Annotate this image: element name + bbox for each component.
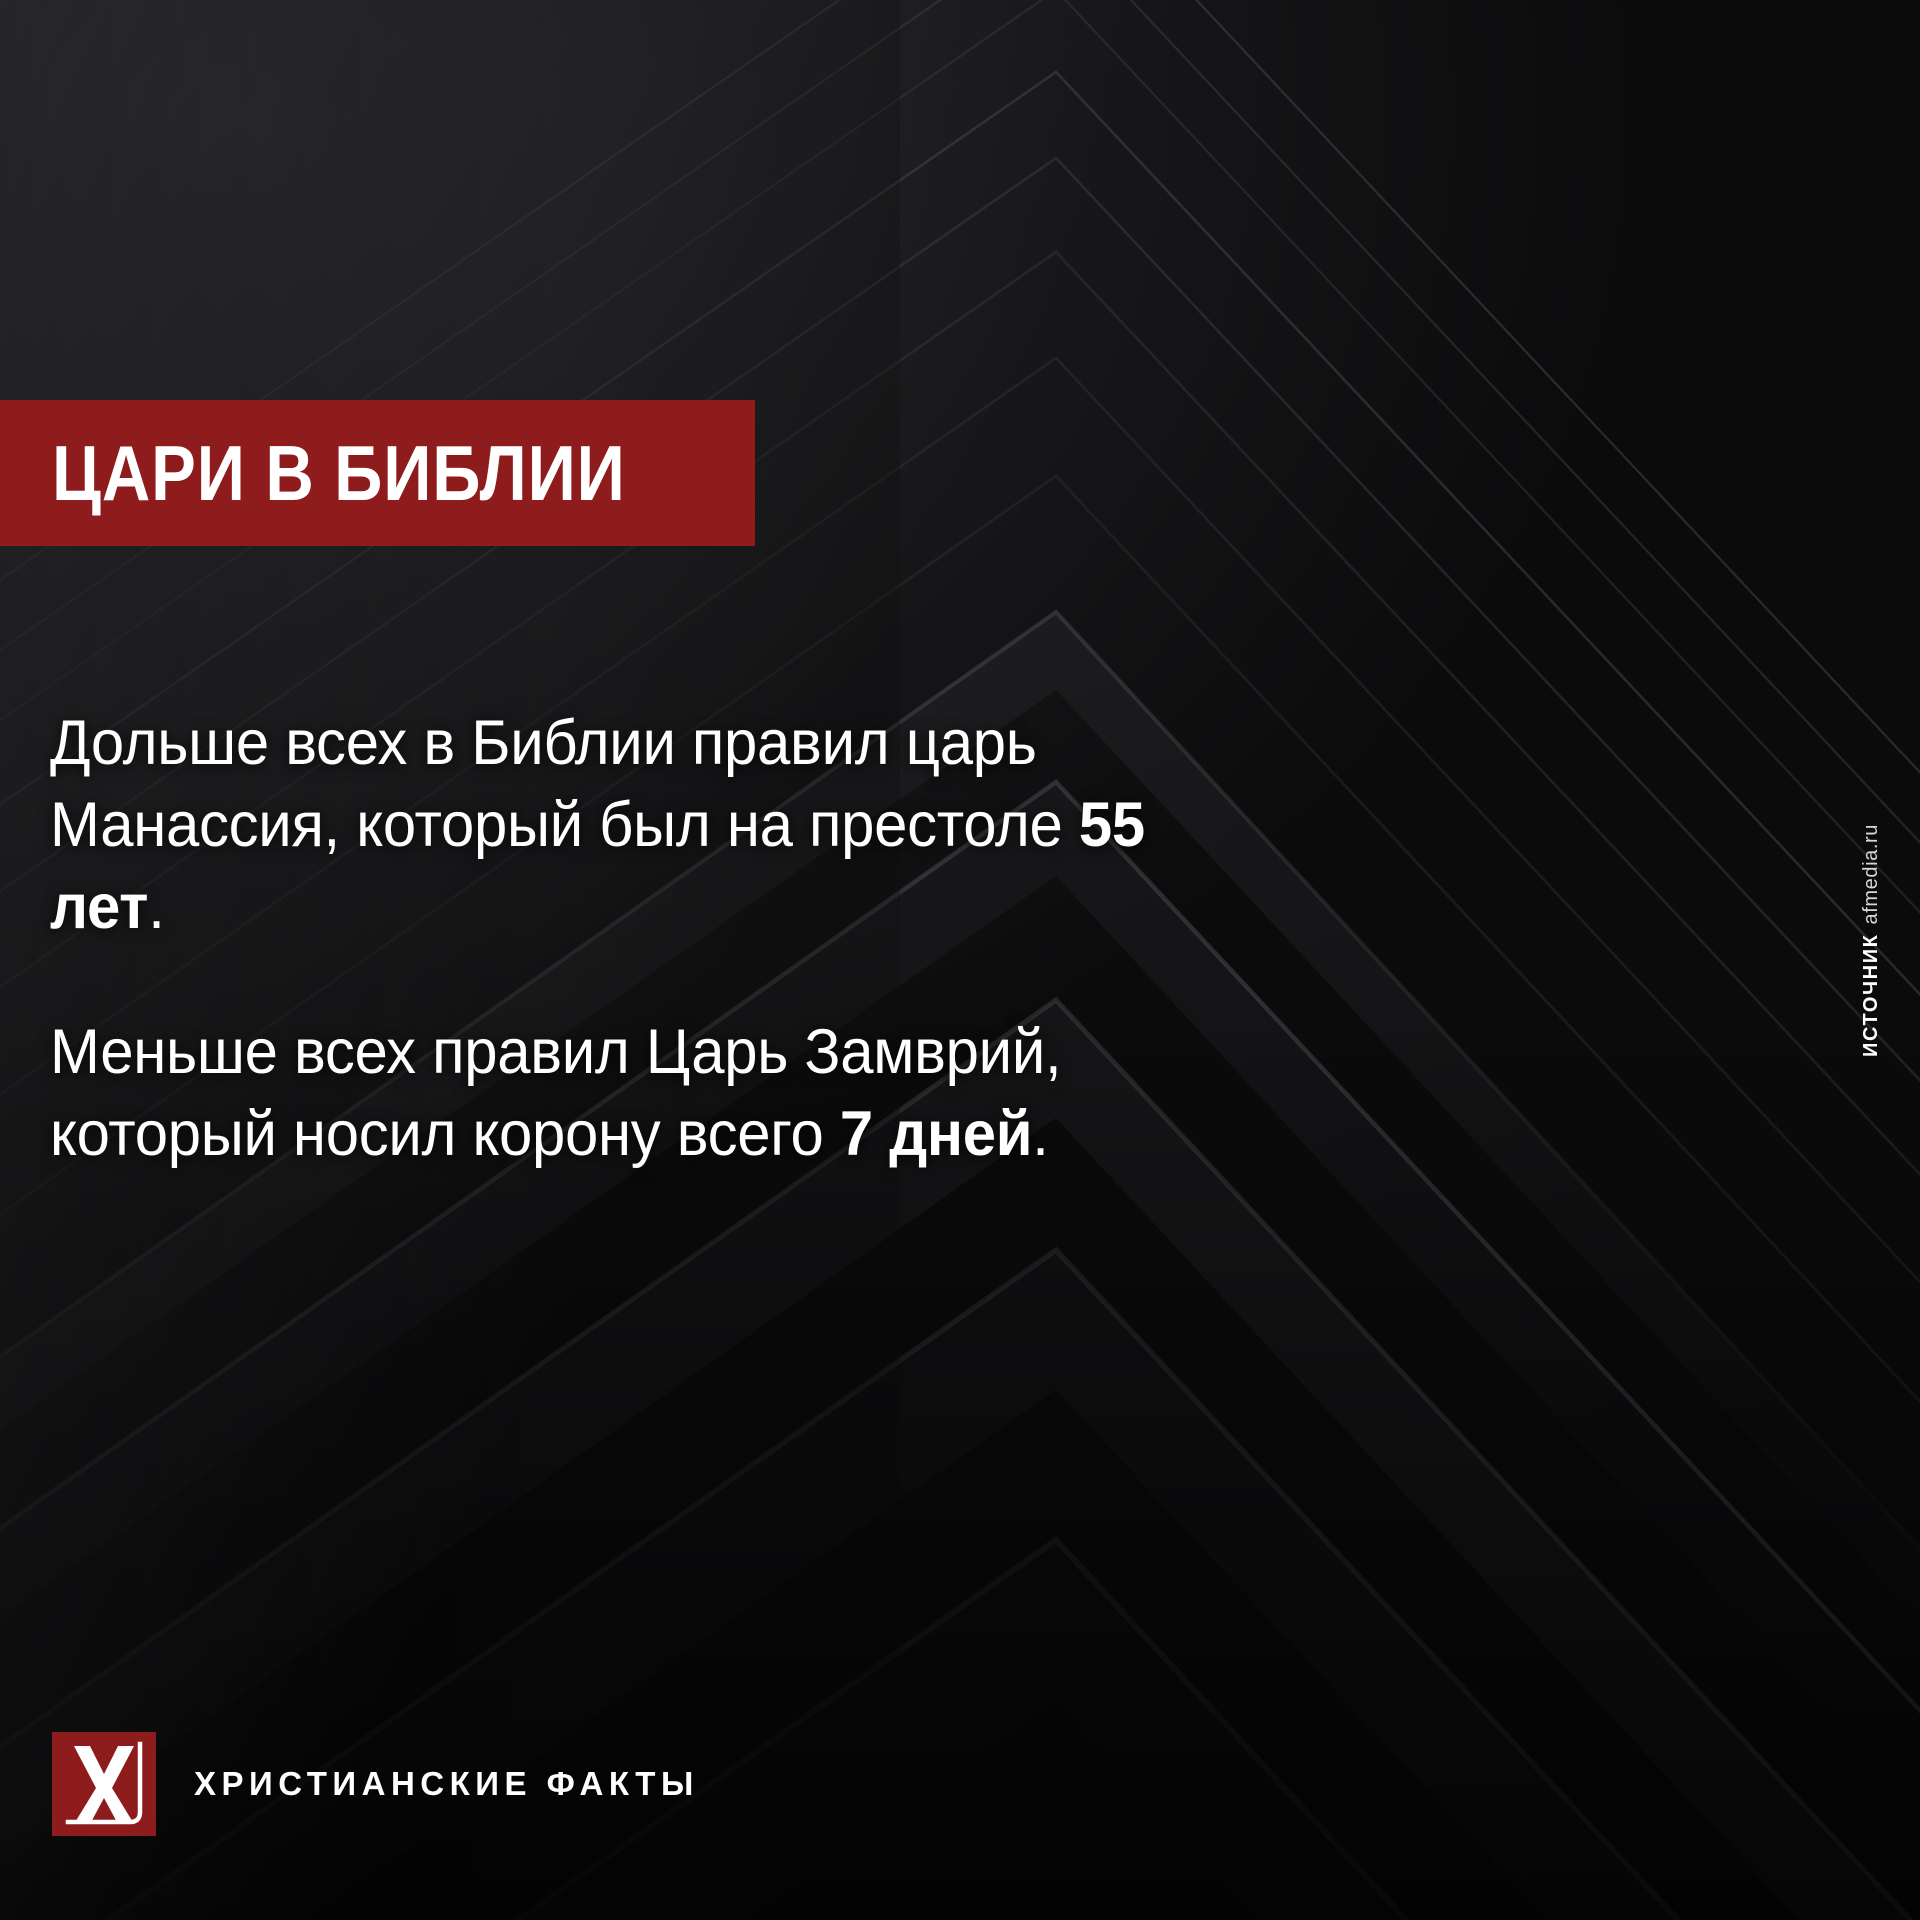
fact-text-block: Дольше всех в Библии правил царь Манасси… bbox=[50, 640, 1230, 1238]
footer-brand-name: ХРИСТИАНСКИЕ ФАКТЫ bbox=[194, 1765, 699, 1803]
fact-paragraph-shortest-reign: Меньше всех правил Царь Замврий, который… bbox=[50, 1012, 1171, 1176]
fact-text-longest-lead: Дольше всех в Библии правил царь Манасси… bbox=[50, 708, 1079, 860]
fact-text-longest-tail: . bbox=[148, 872, 164, 942]
footer-brand-bar: ХРИСТИАНСКИЕ ФАКТЫ bbox=[52, 1732, 699, 1836]
title-banner: ЦАРИ В БИБЛИИ bbox=[0, 400, 755, 546]
fact-text-shortest-tail: . bbox=[1032, 1099, 1048, 1169]
fact-paragraph-longest-reign: Дольше всех в Библии правил царь Манасси… bbox=[50, 703, 1171, 949]
fact-value-shortest-reign: 7 дней bbox=[840, 1099, 1032, 1169]
page-title: ЦАРИ В БИБЛИИ bbox=[52, 434, 626, 512]
infographic-poster: ЦАРИ В БИБЛИИ Дольше всех в Библии прави… bbox=[0, 0, 1920, 1920]
book-x-logo-icon bbox=[52, 1732, 156, 1836]
